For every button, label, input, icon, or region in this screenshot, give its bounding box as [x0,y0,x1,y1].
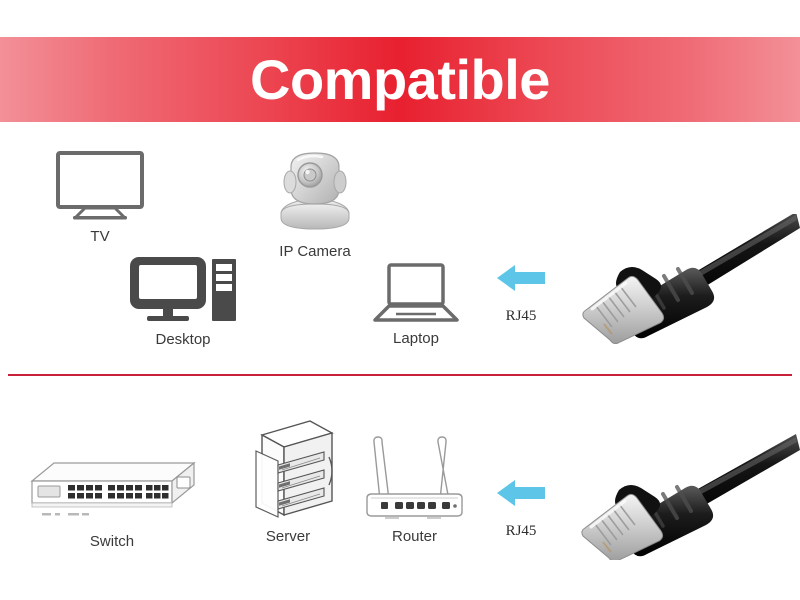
laptop-icon [372,262,460,324]
header-banner: Compatible [0,37,800,122]
rj45-connector-bottom: RJ45 [495,477,547,540]
compatible-device-laptop: Laptop [372,262,460,347]
arrow-left-icon [495,477,547,509]
compatible-device-switch: Switch [22,455,202,550]
rj45-ethernet-cable-top [568,214,800,344]
device-label-server: Server [266,528,310,545]
device-label-switch: Switch [90,533,134,550]
tv-icon [55,150,145,222]
device-label-desktop: Desktop [155,331,210,348]
connector-label-rj45-bottom: RJ45 [506,523,537,540]
compatible-device-ip-camera: IP Camera [265,142,365,260]
compatibility-infographic: Compatible TV [0,0,800,600]
device-label-laptop: Laptop [393,330,439,347]
rj45-connector-top: RJ45 [495,262,547,325]
device-label-tv: TV [90,228,109,245]
network-switch-icon [22,455,202,527]
desktop-computer-icon [128,255,238,325]
device-label-router: Router [392,528,437,545]
connector-label-rj45-top: RJ45 [506,308,537,325]
rj45-ethernet-cable-bottom [563,430,800,560]
server-rack-icon [238,417,338,522]
compatible-device-tv: TV [55,150,145,245]
device-label-ip-camera: IP Camera [279,243,350,260]
wifi-router-icon [357,432,472,522]
compatible-device-server: Server [238,417,338,545]
ip-camera-icon [265,142,365,237]
section-divider [8,374,792,376]
compatible-device-router: Router [357,432,472,545]
compatible-device-desktop: Desktop [128,255,238,348]
arrow-left-icon [495,262,547,294]
page-title: Compatible [250,52,550,108]
